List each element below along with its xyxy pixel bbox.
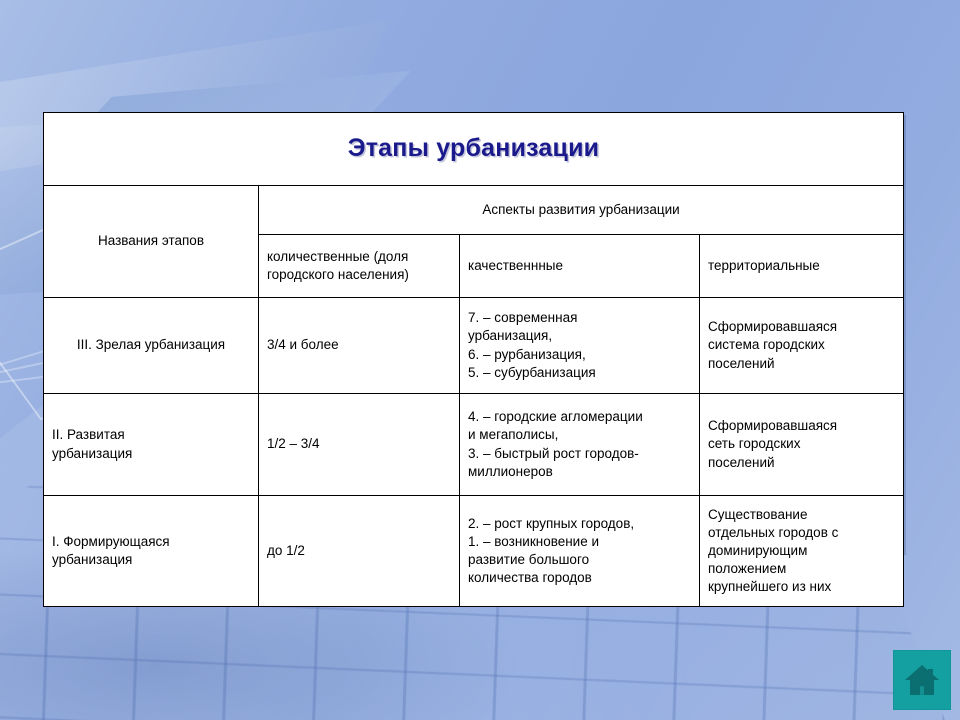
cell-territorial: Существование отдельных городов с домини… [700,496,904,607]
urbanization-stages-table-container: Этапы урбанизации Названия этапов Аспект… [43,112,903,552]
cell-stage-name: I. Формирующаяся урбанизация [44,496,259,607]
header-territorial: территориальные [700,235,904,298]
table-row: II. Развитая урбанизация 1/2 – 3/4 4. – … [44,394,904,496]
slide: Этапы урбанизации Названия этапов Аспект… [0,0,960,720]
slide-title-cell: Этапы урбанизации [44,113,904,186]
page-title: Этапы урбанизации [348,132,600,166]
cell-quantitative: 1/2 – 3/4 [259,394,460,496]
header-aspects-group: Аспекты развития урбанизации [259,186,904,235]
cell-stage-name: III. Зрелая урбанизация [44,298,259,394]
table-row: III. Зрелая урбанизация 3/4 и более 7. –… [44,298,904,394]
cell-territorial: Сформировавшаяся сеть городских поселени… [700,394,904,496]
cell-qualitative: 7. – современная урбанизация, 6. – рурба… [460,298,700,394]
cell-territorial: Сформировавшаяся система городских посел… [700,298,904,394]
cell-qualitative: 2. – рост крупных городов, 1. – возникно… [460,496,700,607]
cell-qualitative: 4. – городские агломерации и мегаполисы,… [460,394,700,496]
cell-quantitative: до 1/2 [259,496,460,607]
header-qualitative: качественнные [460,235,700,298]
home-button[interactable] [893,650,951,710]
table-header-row-group: Названия этапов Аспекты развития урбаниз… [44,186,904,235]
header-quantitative: количественные (доля городского населени… [259,235,460,298]
cell-quantitative: 3/4 и более [259,298,460,394]
home-icon [902,662,942,698]
header-stage-names: Названия этапов [44,186,259,298]
urbanization-stages-table: Этапы урбанизации Названия этапов Аспект… [43,112,904,607]
cell-stage-name: II. Развитая урбанизация [44,394,259,496]
table-row: I. Формирующаяся урбанизация до 1/2 2. –… [44,496,904,607]
table-title-row: Этапы урбанизации [44,113,904,186]
